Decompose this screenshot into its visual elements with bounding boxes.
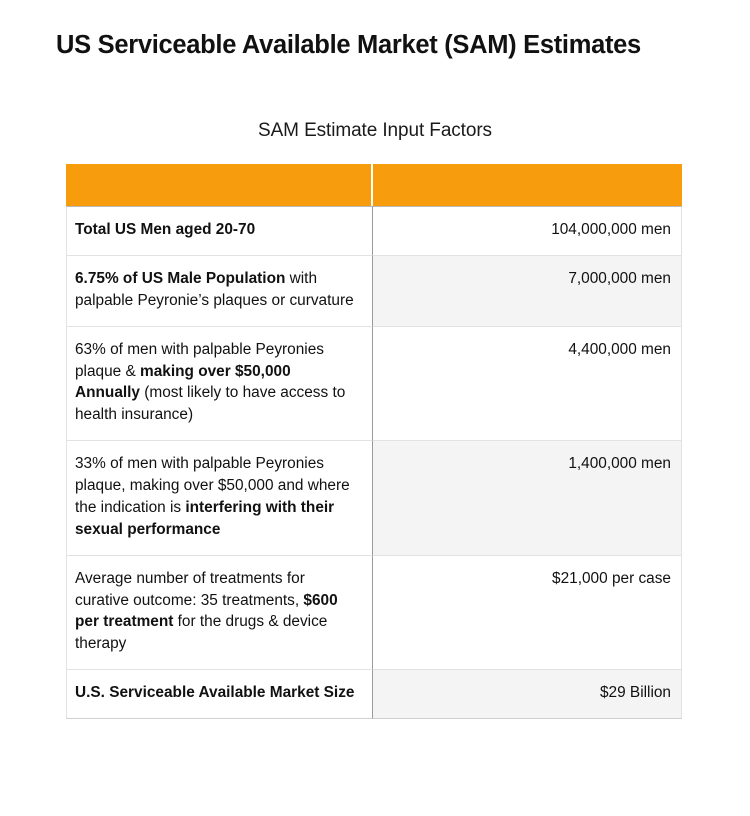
table-header bbox=[66, 164, 682, 206]
row-label-cell: Average number of treatments for curativ… bbox=[66, 556, 373, 671]
row-label-cell: 63% of men with palpable Peyronies plaqu… bbox=[66, 327, 373, 442]
row-value-cell: 7,000,000 men bbox=[373, 256, 682, 327]
page-title: US Serviceable Available Market (SAM) Es… bbox=[56, 30, 716, 61]
label-segment-emphasis: Total US Men aged 20-70 bbox=[75, 221, 255, 238]
table-row: 63% of men with palpable Peyronies plaqu… bbox=[66, 327, 682, 442]
label-segment-emphasis: 6.75% of US Male Population bbox=[75, 270, 285, 287]
table-row: 33% of men with palpable Peyronies plaqu… bbox=[66, 441, 682, 556]
table-body: Total US Men aged 20-70104,000,000 men6.… bbox=[66, 206, 682, 719]
label-segment: Average number of treatments for curativ… bbox=[75, 570, 305, 609]
table-header-row bbox=[66, 164, 682, 206]
header-cell-label-column bbox=[66, 164, 373, 206]
table-row: 6.75% of US Male Population with palpabl… bbox=[66, 256, 682, 327]
sam-estimates-page: US Serviceable Available Market (SAM) Es… bbox=[0, 0, 750, 816]
label-segment-emphasis: U.S. Serviceable Available Market Size bbox=[75, 684, 354, 701]
sam-table-container: Total US Men aged 20-70104,000,000 men6.… bbox=[66, 164, 682, 719]
row-label-cell: Total US Men aged 20-70 bbox=[66, 206, 373, 256]
table-row: U.S. Serviceable Available Market Size$2… bbox=[66, 670, 682, 719]
table-row: Total US Men aged 20-70104,000,000 men bbox=[66, 206, 682, 256]
header-cell-value-column bbox=[373, 164, 682, 206]
row-value-cell: 4,400,000 men bbox=[373, 327, 682, 442]
row-label-cell: 33% of men with palpable Peyronies plaqu… bbox=[66, 441, 373, 556]
row-label-cell: U.S. Serviceable Available Market Size bbox=[66, 670, 373, 719]
table-row: Average number of treatments for curativ… bbox=[66, 556, 682, 671]
table-caption: SAM Estimate Input Factors bbox=[0, 120, 750, 142]
row-value-cell: 104,000,000 men bbox=[373, 206, 682, 256]
row-label-cell: 6.75% of US Male Population with palpabl… bbox=[66, 256, 373, 327]
sam-estimates-table: Total US Men aged 20-70104,000,000 men6.… bbox=[66, 164, 682, 719]
row-value-cell: 1,400,000 men bbox=[373, 441, 682, 556]
row-value-cell: $29 Billion bbox=[373, 670, 682, 719]
row-value-cell: $21,000 per case bbox=[373, 556, 682, 671]
